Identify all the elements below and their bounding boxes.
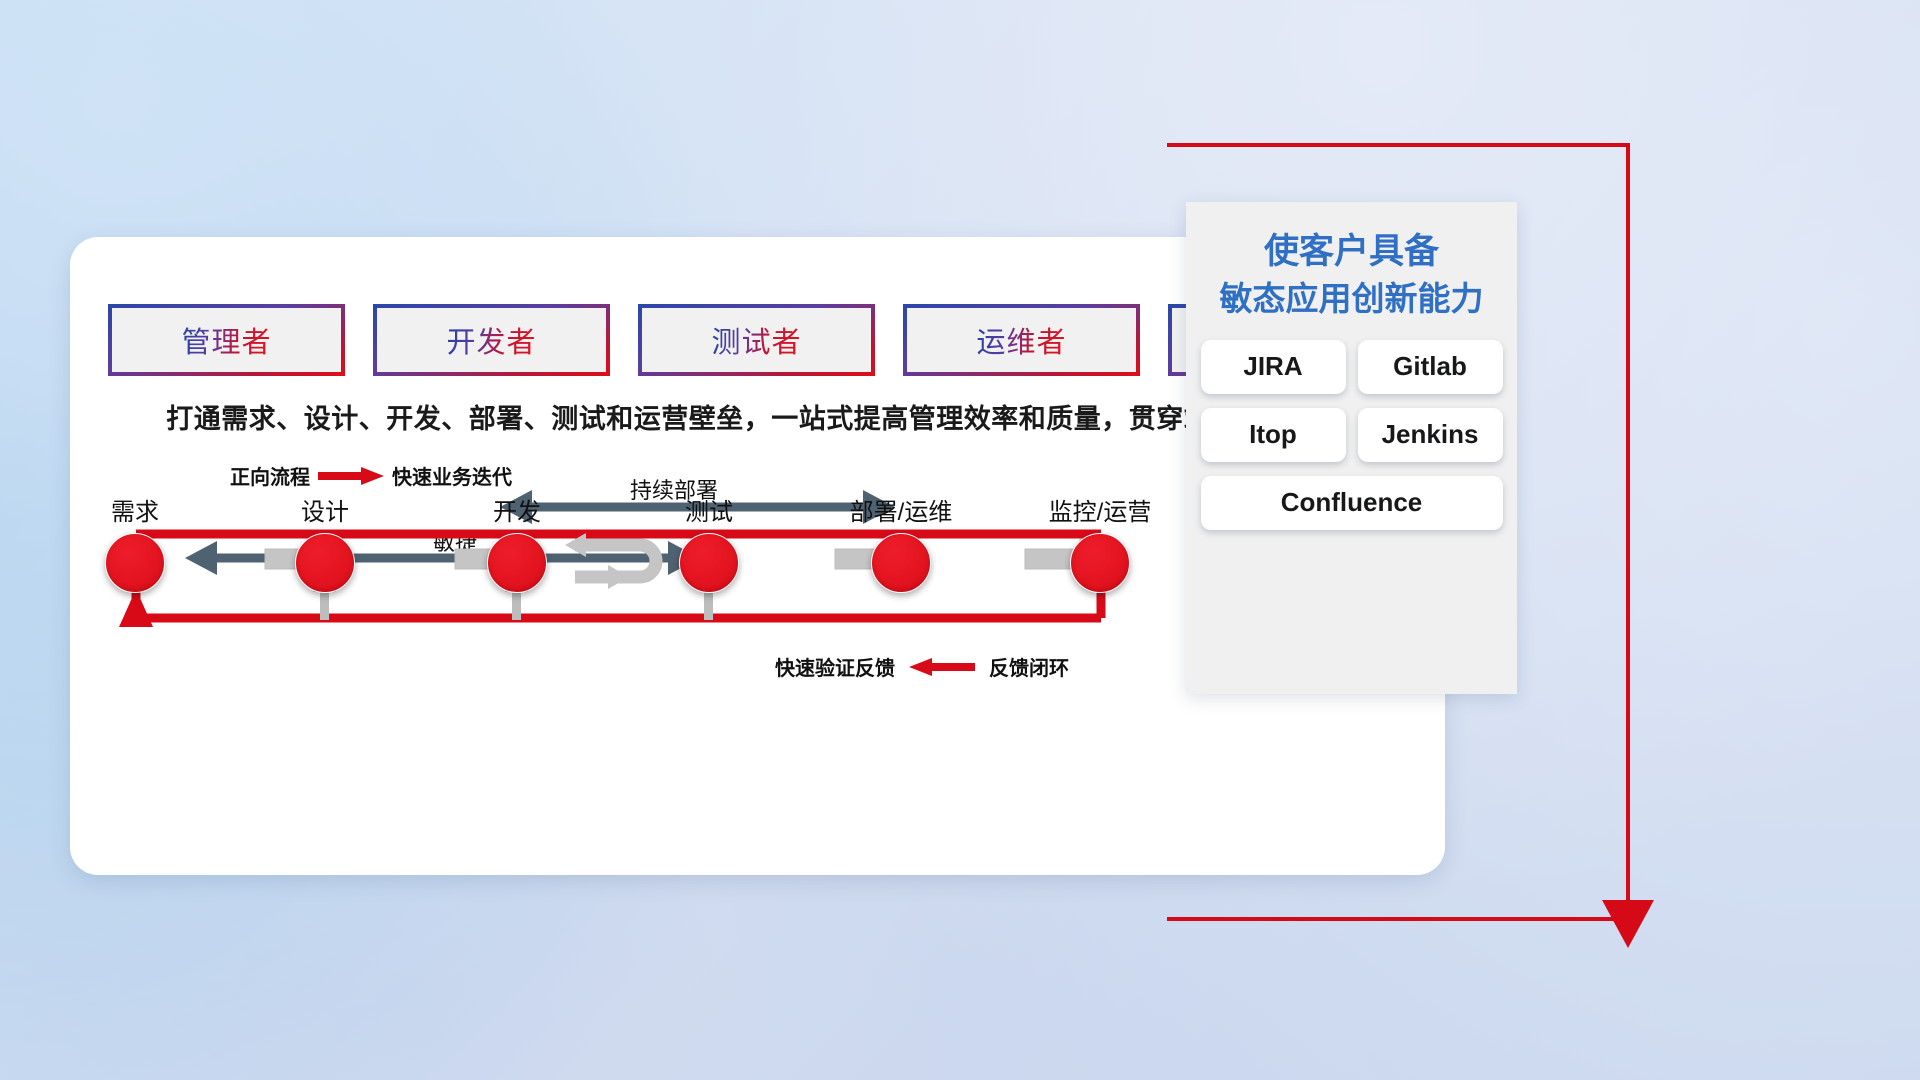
role-box-tester[interactable]: 测试者	[638, 304, 875, 376]
tools-title-line1: 使客户具备	[1186, 228, 1517, 276]
stage-requirement[interactable]: 需求	[60, 501, 210, 593]
legend-forward-to-label: 快速业务迭代	[392, 461, 512, 490]
stage-label: 测试	[634, 501, 784, 525]
stage-label: 监控/运营	[1025, 501, 1175, 525]
slide-canvas: 管理者 开发者 测试者 运维者 运营者 打通需求、设计、开发、部署、测试和运营壁…	[0, 0, 1920, 1080]
legend-forward-from-label: 正向流程	[230, 461, 310, 490]
stage-dot-icon	[679, 533, 739, 593]
role-box-developer[interactable]: 开发者	[373, 304, 610, 376]
tool-chip-confluence[interactable]: Confluence	[1201, 476, 1503, 530]
connector-arrow-down-icon	[1598, 898, 1658, 958]
tools-panel: 使客户具备 敏态应用创新能力 JIRA Gitlab Itop Jenkins …	[1186, 202, 1517, 694]
stage-design[interactable]: 设计	[250, 501, 400, 593]
stage-label: 部署/运维	[826, 501, 976, 525]
role-label: 测试者	[711, 319, 801, 361]
tool-chip-gitlab[interactable]: Gitlab	[1358, 340, 1503, 394]
role-box-ops[interactable]: 运维者	[903, 304, 1140, 376]
arrow-left-red-icon	[909, 658, 975, 675]
stage-monitor-operate[interactable]: 监控/运营	[1025, 501, 1175, 593]
legend-feedback-to-label: 反馈闭环	[989, 652, 1069, 681]
stage-test[interactable]: 测试	[634, 501, 784, 593]
stage-dot-icon	[871, 533, 931, 593]
legend-feedback-from-label: 快速验证反馈	[775, 652, 895, 681]
stage-label: 设计	[250, 501, 400, 525]
stage-dot-icon	[295, 533, 355, 593]
stage-dot-icon	[105, 533, 165, 593]
role-box-manager[interactable]: 管理者	[108, 304, 345, 376]
tools-title-line2: 敏态应用创新能力	[1186, 276, 1517, 322]
legend-feedback-loop: 快速验证反馈 反馈闭环	[775, 652, 1069, 681]
role-label: 管理者	[181, 319, 271, 361]
stage-develop[interactable]: 开发	[442, 501, 592, 593]
role-label: 开发者	[446, 319, 536, 361]
tool-chip-itop[interactable]: Itop	[1201, 408, 1346, 462]
role-label: 运维者	[976, 319, 1066, 361]
stage-dot-icon	[1070, 533, 1130, 593]
stage-label: 需求	[60, 501, 210, 525]
stage-label: 开发	[442, 501, 592, 525]
legend-forward-flow: 正向流程 快速业务迭代	[230, 461, 512, 490]
tools-panel-title: 使客户具备 敏态应用创新能力	[1186, 202, 1517, 322]
stage-dot-icon	[487, 533, 547, 593]
tool-chip-jenkins[interactable]: Jenkins	[1358, 408, 1503, 462]
tools-grid: JIRA Gitlab Itop Jenkins Confluence	[1186, 340, 1517, 530]
stage-deploy-ops[interactable]: 部署/运维	[826, 501, 976, 593]
tool-chip-jira[interactable]: JIRA	[1201, 340, 1346, 394]
arrow-right-red-icon	[318, 467, 384, 484]
